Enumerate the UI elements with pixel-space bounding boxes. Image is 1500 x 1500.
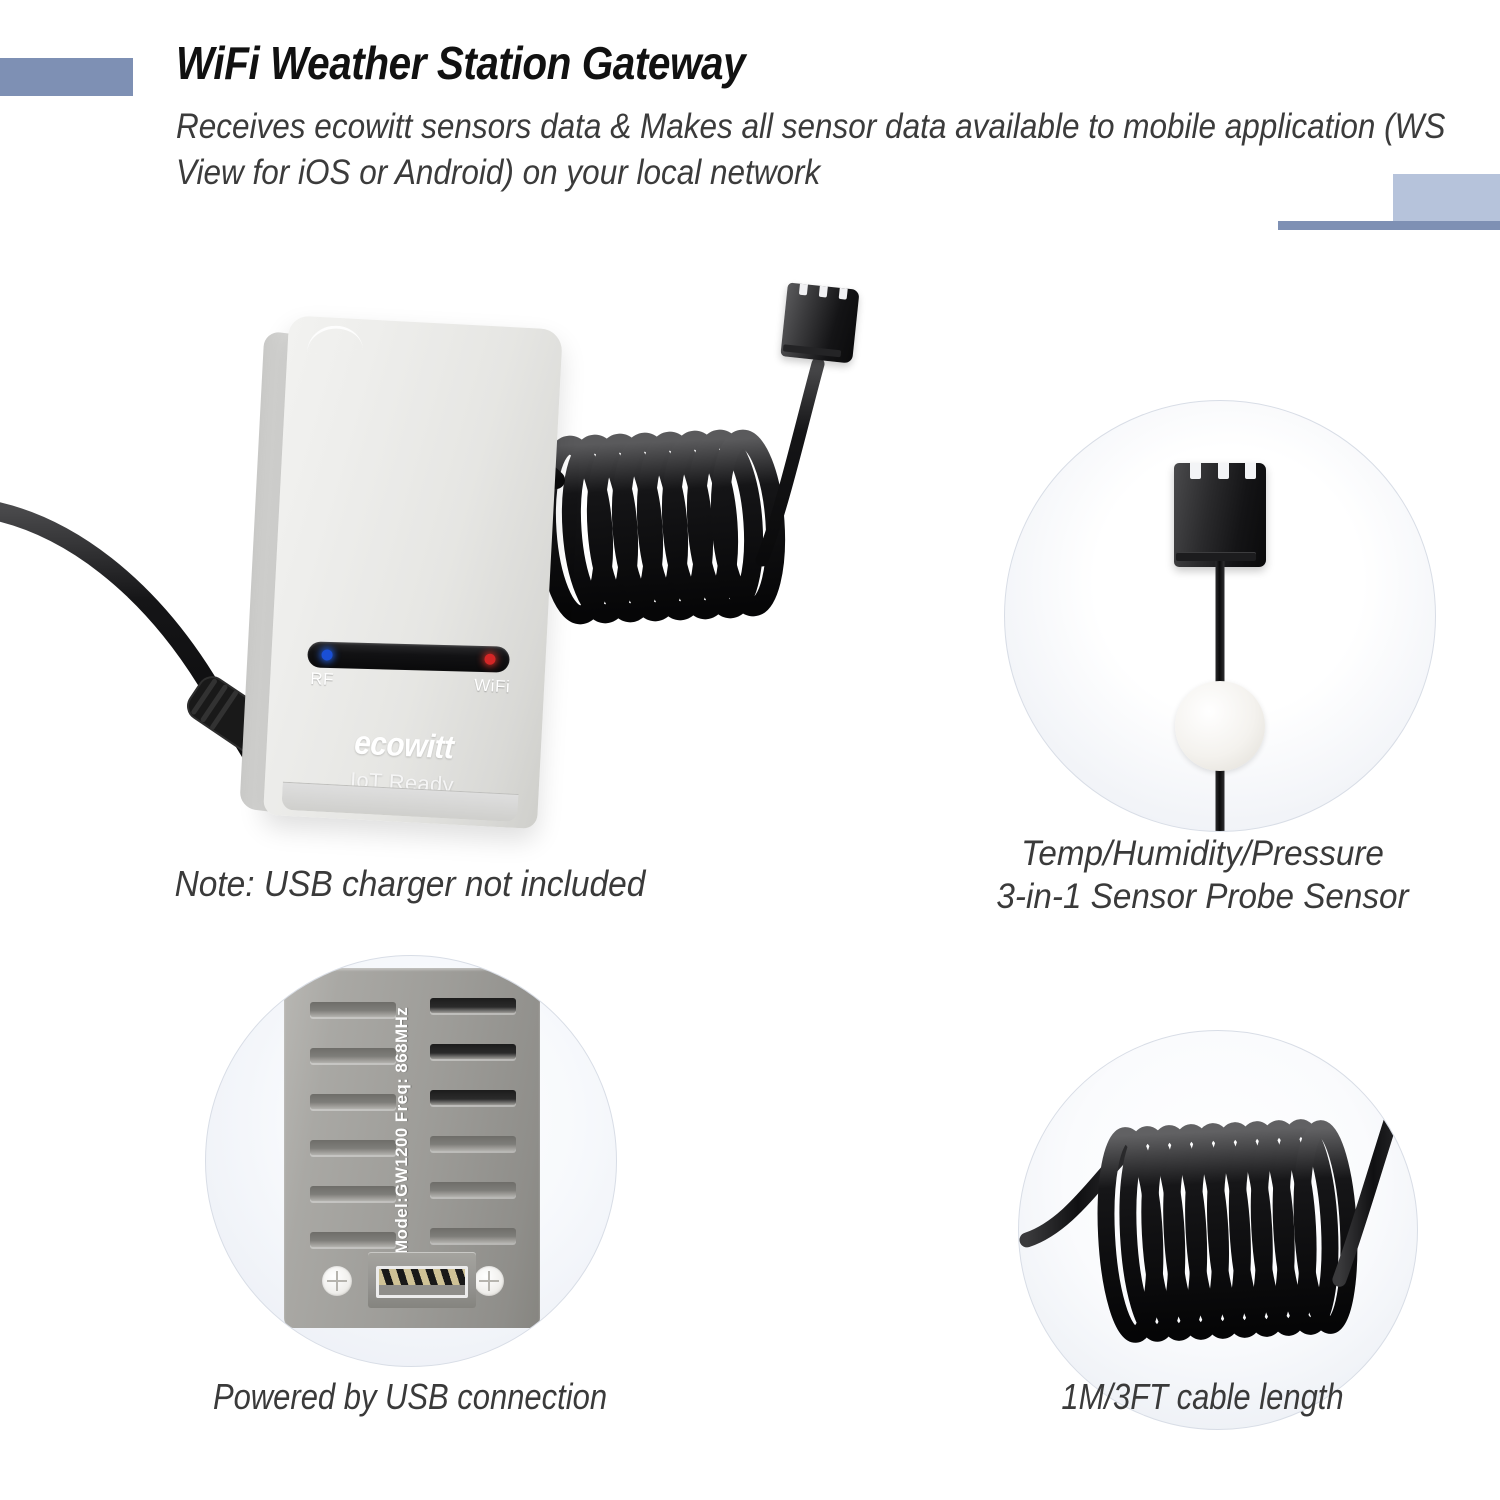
- rf-led-icon: [321, 649, 332, 660]
- vent-slot: [430, 1228, 516, 1243]
- device-front-face: RF WiFi ecowitt IoT Ready: [263, 315, 563, 829]
- led-indicator-strip: [307, 641, 510, 672]
- screw-hole-right: [474, 1266, 504, 1296]
- vent-slot: [430, 998, 516, 1013]
- inset-sensor-probe: [1004, 400, 1436, 832]
- vent-column-right: [430, 998, 516, 1274]
- device-back-panel: Model:GW1200 Freq: 868MHz: [284, 968, 540, 1328]
- header-accent-bar-right: [1278, 221, 1500, 230]
- vent-slot: [430, 1044, 516, 1059]
- vent-slot: [310, 1002, 396, 1017]
- hero-product-photo: RF WiFi ecowitt IoT Ready: [0, 260, 960, 880]
- vent-slot: [430, 1182, 516, 1197]
- wifi-led-icon: [484, 654, 495, 665]
- vent-slot: [310, 1232, 396, 1247]
- usb-contacts: [379, 1269, 465, 1285]
- vent-slot: [430, 1136, 516, 1151]
- wifi-led-label: WiFi: [474, 676, 511, 698]
- vent-slot: [310, 1140, 396, 1155]
- usb-port-housing: [368, 1252, 476, 1308]
- vent-column-left: [310, 1002, 396, 1278]
- screw-hole-left: [322, 1266, 352, 1296]
- sensor-probe-connector: [1174, 463, 1266, 567]
- usb-inset-caption: Powered by USB connection: [109, 1375, 711, 1419]
- vent-slot: [310, 1094, 396, 1109]
- brand-logo-text: ecowitt: [280, 720, 528, 771]
- header-accent-bar-left: [0, 58, 133, 96]
- page-title: WiFi Weather Station Gateway: [176, 36, 1320, 90]
- usb-a-port: [376, 1266, 468, 1298]
- vent-slot: [310, 1186, 396, 1201]
- sensor-caption-line2: 3-in-1 Sensor Probe Sensor: [996, 877, 1408, 916]
- sensor-probe-pins: [1190, 463, 1256, 479]
- rf-led-label: RF: [310, 669, 335, 690]
- device-model-label: Model:GW1200 Freq: 868MHz: [392, 1004, 412, 1254]
- coil-inset-caption: 1M/3FT cable length: [968, 1375, 1437, 1419]
- sensor-connector-head: [780, 282, 859, 363]
- page-subtitle: Receives ecowitt sensors data & Makes al…: [176, 104, 1490, 196]
- inset-usb-connection: Model:GW1200 Freq: 868MHz: [205, 955, 617, 1367]
- vent-slot: [310, 1048, 396, 1063]
- sensor-probe-clip: [1175, 681, 1265, 771]
- device-highlight: [305, 323, 363, 354]
- sensor-inset-caption: Temp/Humidity/Pressure3-in-1 Sensor Prob…: [944, 833, 1462, 918]
- gateway-device: RF WiFi ecowitt IoT Ready: [255, 315, 563, 829]
- inset-cable-coil: [1018, 1030, 1418, 1430]
- sensor-caption-line1: Temp/Humidity/Pressure: [1021, 834, 1384, 873]
- header: WiFi Weather Station Gateway Receives ec…: [176, 36, 1476, 196]
- hero-caption: Note: USB charger not included: [85, 862, 736, 906]
- vent-slot: [430, 1090, 516, 1105]
- cable-coil-graphic: [1019, 1031, 1417, 1429]
